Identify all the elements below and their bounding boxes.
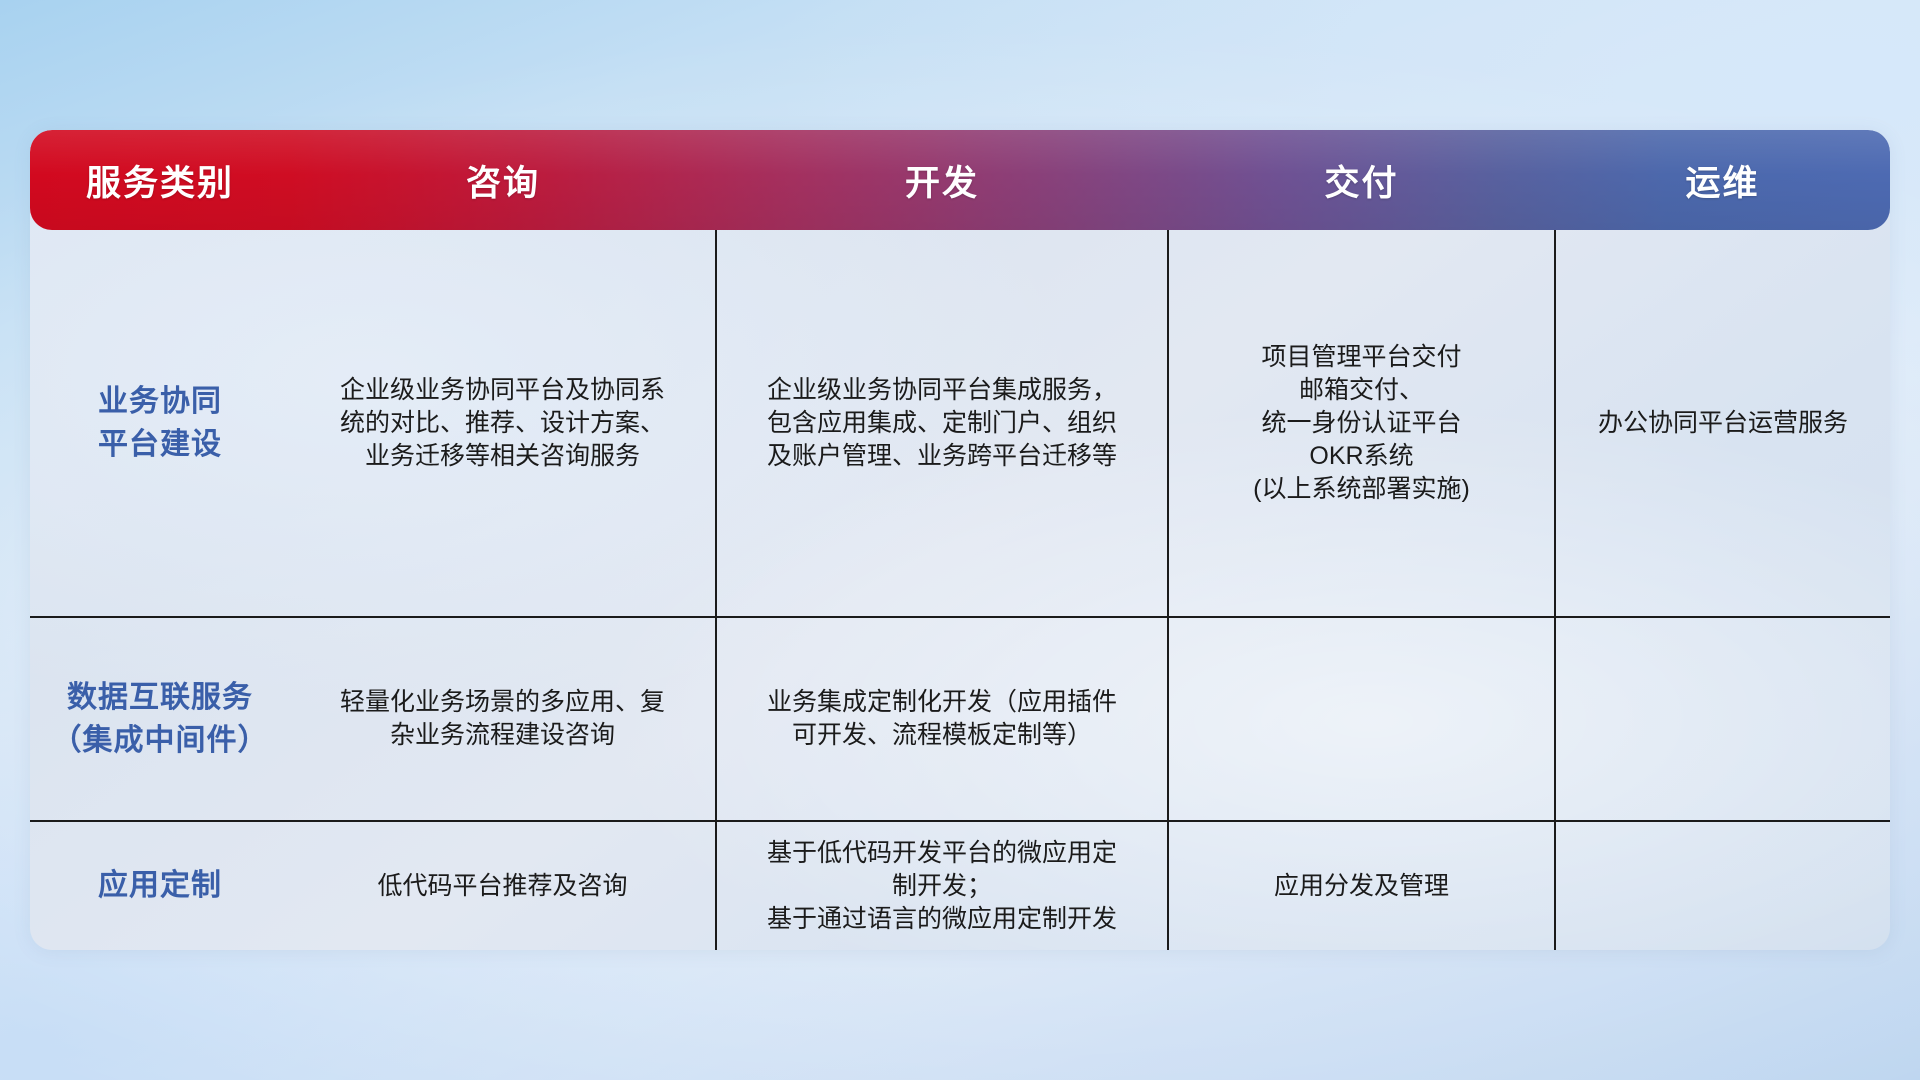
cell-r3-development: 基于低代码开发平台的微应用定 制开发； 基于通过语言的微应用定制开发: [717, 822, 1167, 950]
services-matrix-table: 服务类别 咨询 开发 交付 运维 业务协同 平台建设 企业级业务协同平台及协同系…: [30, 130, 1890, 950]
cell-r2-development: 业务集成定制化开发（应用插件 可开发、流程模板定制等）: [717, 618, 1167, 820]
row-label-data-interconnect: 数据互联服务 （集成中间件）: [30, 618, 290, 820]
cell-r3-operations: [1556, 822, 1890, 950]
row-label-app-customization: 应用定制: [30, 822, 290, 950]
column-header-development: 开发: [716, 130, 1168, 230]
column-header-consulting: 咨询: [290, 130, 716, 230]
cell-r1-development: 企业级业务协同平台集成服务， 包含应用集成、定制门户、组织 及账户管理、业务跨平…: [717, 230, 1167, 616]
cell-r1-consulting: 企业级业务协同平台及协同系 统的对比、推荐、设计方案、 业务迁移等相关咨询服务: [290, 230, 715, 616]
table-body: 业务协同 平台建设 企业级业务协同平台及协同系 统的对比、推荐、设计方案、 业务…: [30, 230, 1890, 950]
cell-r2-delivery: [1169, 618, 1554, 820]
row-label-business-collaboration: 业务协同 平台建设: [30, 230, 290, 616]
cell-r3-consulting: 低代码平台推荐及咨询: [290, 822, 715, 950]
cell-r1-operations: 办公协同平台运营服务: [1556, 230, 1890, 616]
cell-r1-delivery: 项目管理平台交付 邮箱交付、 统一身份认证平台 OKR系统 (以上系统部署实施): [1169, 230, 1554, 616]
column-header-service-category: 服务类别: [30, 130, 290, 230]
slide-canvas: 服务类别 咨询 开发 交付 运维 业务协同 平台建设 企业级业务协同平台及协同系…: [0, 0, 1920, 1080]
column-header-operations: 运维: [1555, 130, 1890, 230]
cell-r3-delivery: 应用分发及管理: [1169, 822, 1554, 950]
cell-r2-consulting: 轻量化业务场景的多应用、复 杂业务流程建设咨询: [290, 618, 715, 820]
column-header-delivery: 交付: [1168, 130, 1555, 230]
cell-r2-operations: [1556, 618, 1890, 820]
